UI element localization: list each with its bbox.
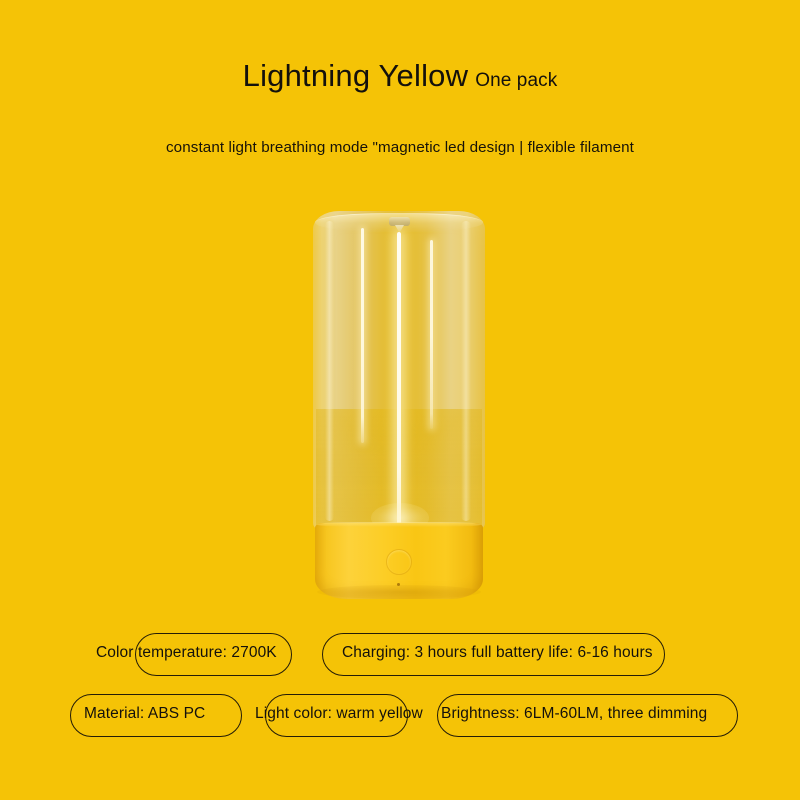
led-filament-left-icon	[361, 228, 364, 443]
feature-label-charging: Charging: 3 hours full battery life: 6-1…	[342, 644, 653, 662]
page-title: Lightning YellowOne pack	[0, 60, 800, 91]
lamp-base-shadow	[317, 585, 481, 599]
feature-label-brightness: Brightness: 6LM-60LM, three dimming	[441, 705, 707, 723]
feature-label-light-color: Light color: warm yellow	[255, 705, 423, 723]
product-title: Lightning Yellow	[243, 58, 469, 93]
lamp-power-button-icon	[386, 549, 412, 575]
feature-label-material: Material: ABS PC	[84, 705, 205, 723]
product-detail-page: Lightning YellowOne pack constant light …	[0, 0, 800, 800]
lamp-shade-highlight-right	[461, 221, 471, 521]
lamp-base-top-edge	[317, 522, 481, 527]
product-subtitle: constant light breathing mode "magnetic …	[0, 139, 800, 156]
product-image-lamp	[313, 211, 485, 599]
led-filament-center-icon	[397, 232, 401, 529]
page-header: Lightning YellowOne pack constant light …	[0, 60, 800, 91]
feature-label-color-temperature: Color temperature: 2700K	[96, 644, 277, 662]
lamp-filament-mount	[389, 217, 410, 226]
product-pack-label: One pack	[475, 70, 557, 91]
led-filament-right-icon	[430, 240, 433, 429]
lamp-shade-highlight-left	[325, 221, 334, 521]
